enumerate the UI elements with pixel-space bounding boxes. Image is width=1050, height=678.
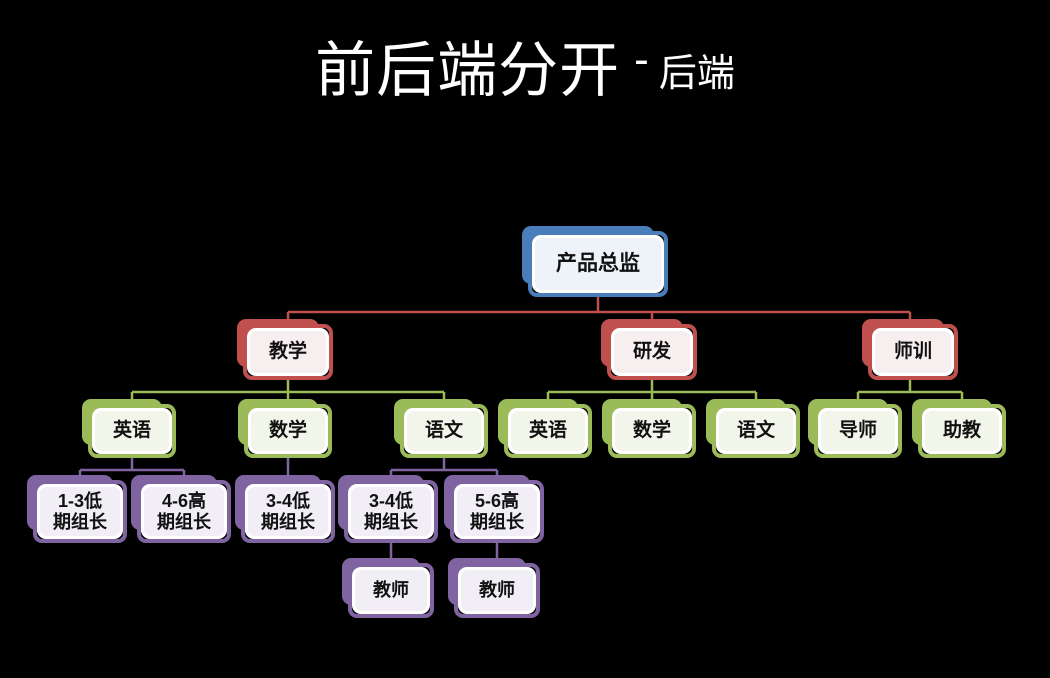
slide-canvas: 前后端分开-后端 bbox=[0, 0, 1050, 678]
node-inner: 教学 bbox=[250, 331, 326, 373]
org-node-teaching-math[interactable]: 数学 bbox=[244, 404, 332, 458]
title-main-text: 前后端分开 bbox=[315, 37, 620, 104]
org-node-label: 5-6高期组长 bbox=[470, 491, 524, 531]
org-node-label-line1: 5-6高 bbox=[475, 491, 519, 511]
node-inner: 1-3低期组长 bbox=[40, 487, 120, 536]
node-inner: 3-4低期组长 bbox=[248, 487, 328, 536]
org-node-teacher-chinese-3-4[interactable]: 教师 bbox=[348, 563, 434, 618]
org-node-product-director[interactable]: 产品总监 bbox=[528, 231, 668, 297]
connector-group-root bbox=[288, 297, 910, 325]
node-face: 导师 bbox=[818, 408, 898, 454]
org-node-label: 教学 bbox=[269, 341, 307, 362]
node-inner: 3-4低期组长 bbox=[351, 487, 431, 536]
org-node-label: 数学 bbox=[269, 420, 307, 441]
node-face: 师训 bbox=[872, 328, 954, 376]
org-node-lead-chinese-5-6[interactable]: 5-6高期组长 bbox=[450, 480, 544, 543]
org-node-label: 4-6高期组长 bbox=[157, 491, 211, 531]
org-node-label: 3-4低期组长 bbox=[261, 491, 315, 531]
org-node-label-line1: 4-6高 bbox=[162, 491, 206, 511]
org-node-label-line2: 期组长 bbox=[157, 512, 211, 532]
node-inner: 语文 bbox=[407, 411, 481, 451]
org-node-label-line2: 期组长 bbox=[261, 512, 315, 532]
title-separator-dash: - bbox=[634, 35, 649, 84]
org-node-lead-chinese-3-4[interactable]: 3-4低期组长 bbox=[344, 480, 438, 543]
org-node-lead-math-3-4[interactable]: 3-4低期组长 bbox=[241, 480, 335, 543]
node-face: 数学 bbox=[612, 408, 692, 454]
node-face: 3-4低期组长 bbox=[245, 484, 331, 539]
org-node-rd[interactable]: 研发 bbox=[607, 324, 697, 380]
node-inner: 英语 bbox=[95, 411, 169, 451]
org-node-lead-english-1-3[interactable]: 1-3低期组长 bbox=[33, 480, 127, 543]
org-node-label: 助教 bbox=[943, 420, 981, 441]
org-node-teaching[interactable]: 教学 bbox=[243, 324, 333, 380]
node-face: 1-3低期组长 bbox=[37, 484, 123, 539]
node-inner: 数学 bbox=[251, 411, 325, 451]
org-node-label: 导师 bbox=[839, 420, 877, 441]
node-face: 4-6高期组长 bbox=[141, 484, 227, 539]
org-node-label: 教师 bbox=[373, 580, 409, 600]
org-node-label: 数学 bbox=[633, 420, 671, 441]
node-face: 教师 bbox=[458, 567, 536, 614]
node-face: 英语 bbox=[92, 408, 172, 454]
node-inner: 助教 bbox=[925, 411, 999, 451]
org-node-rd-english[interactable]: 英语 bbox=[504, 404, 592, 458]
org-node-teacher-training[interactable]: 师训 bbox=[868, 324, 958, 380]
node-inner: 数学 bbox=[615, 411, 689, 451]
node-inner: 师训 bbox=[875, 331, 951, 373]
node-face: 语文 bbox=[404, 408, 484, 454]
org-node-teaching-chinese[interactable]: 语文 bbox=[400, 404, 488, 458]
org-node-label: 1-3低期组长 bbox=[53, 491, 107, 531]
org-node-label: 产品总监 bbox=[556, 252, 640, 276]
node-face: 研发 bbox=[611, 328, 693, 376]
org-node-label: 3-4低期组长 bbox=[364, 491, 418, 531]
node-inner: 产品总监 bbox=[535, 238, 661, 290]
org-node-label: 研发 bbox=[633, 341, 671, 362]
org-node-label-line1: 3-4低 bbox=[266, 491, 310, 511]
org-node-label: 语文 bbox=[425, 420, 463, 441]
node-face: 语文 bbox=[716, 408, 796, 454]
org-node-label-line1: 1-3低 bbox=[58, 491, 102, 511]
org-node-lead-english-4-6[interactable]: 4-6高期组长 bbox=[137, 480, 231, 543]
node-inner: 研发 bbox=[614, 331, 690, 373]
node-inner: 导师 bbox=[821, 411, 895, 451]
org-node-training-assistant[interactable]: 助教 bbox=[918, 404, 1006, 458]
node-face: 数学 bbox=[248, 408, 328, 454]
org-node-label: 英语 bbox=[529, 420, 567, 441]
node-inner: 教师 bbox=[461, 570, 533, 611]
org-node-teacher-chinese-5-6[interactable]: 教师 bbox=[454, 563, 540, 618]
title-subtitle-text: 后端 bbox=[659, 53, 735, 95]
node-face: 5-6高期组长 bbox=[454, 484, 540, 539]
org-node-training-mentor[interactable]: 导师 bbox=[814, 404, 902, 458]
org-node-teaching-english[interactable]: 英语 bbox=[88, 404, 176, 458]
node-face: 英语 bbox=[508, 408, 588, 454]
org-node-label-line2: 期组长 bbox=[470, 512, 524, 532]
node-face: 3-4低期组长 bbox=[348, 484, 434, 539]
node-inner: 英语 bbox=[511, 411, 585, 451]
org-node-label-line2: 期组长 bbox=[53, 512, 107, 532]
org-node-label: 师训 bbox=[894, 341, 932, 362]
org-node-label: 英语 bbox=[113, 420, 151, 441]
node-inner: 5-6高期组长 bbox=[457, 487, 537, 536]
org-node-label-line1: 3-4低 bbox=[369, 491, 413, 511]
node-face: 教学 bbox=[247, 328, 329, 376]
node-face: 产品总监 bbox=[532, 235, 664, 293]
org-node-label-line2: 期组长 bbox=[364, 512, 418, 532]
org-node-label: 语文 bbox=[737, 420, 775, 441]
node-inner: 语文 bbox=[719, 411, 793, 451]
node-inner: 4-6高期组长 bbox=[144, 487, 224, 536]
org-node-rd-math[interactable]: 数学 bbox=[608, 404, 696, 458]
node-inner: 教师 bbox=[355, 570, 427, 611]
node-face: 助教 bbox=[922, 408, 1002, 454]
org-node-label: 教师 bbox=[479, 580, 515, 600]
node-face: 教师 bbox=[352, 567, 430, 614]
slide-title: 前后端分开-后端 bbox=[0, 22, 1050, 109]
org-node-rd-chinese[interactable]: 语文 bbox=[712, 404, 800, 458]
